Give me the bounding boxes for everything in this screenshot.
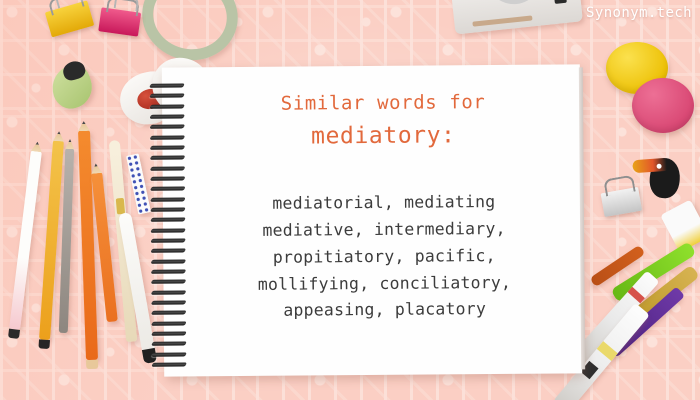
spiral-ring [150,238,186,242]
spiral-ring [151,300,187,304]
spiral-ring [149,83,185,87]
spiral-ring [151,362,187,366]
site-logo[interactable]: Synonym.tech [586,5,692,21]
page-headword: mediatory: [204,116,562,156]
spiral-ring [150,249,186,253]
spiral-ring [149,94,185,98]
notebook: Similar words for mediatory: mediatorial… [162,64,582,376]
spiral-ring [151,342,187,346]
spiral-ring [150,166,186,170]
spiral-ring [150,176,186,180]
spiral-ring [151,352,187,356]
screenshot-canvas: Similar words for mediatory: mediatorial… [0,0,700,400]
spiral-ring [149,145,185,149]
spiral-ring [150,269,186,273]
page-title-prefix: Similar words for [204,89,562,119]
spiral-ring [150,197,186,201]
spiral-ring [149,104,185,108]
synonym-list: mediatorial, mediating mediative, interm… [205,189,564,325]
spiral-ring [151,280,187,284]
toucan-sticker [634,148,691,202]
binder-clip-pink [98,3,142,36]
spiral-ring [151,311,187,315]
notebook-page: Similar words for mediatory: mediatorial… [162,64,582,376]
synonym-line: mediative, intermediary, [205,216,563,246]
synonym-line: mediatorial, mediating [205,189,563,219]
macaron-pink [632,78,694,133]
spiral-ring [150,156,186,160]
spiral-ring [149,114,185,118]
spiral-ring [150,218,186,222]
spiral-binding [150,83,188,366]
spiral-ring [150,187,186,191]
spiral-ring [151,321,187,325]
spiral-ring [149,125,185,129]
synonym-line: mollifying, conciliatory, [205,269,563,299]
card-content: Similar words for mediatory: mediatorial… [204,89,564,326]
spiral-ring [150,259,186,263]
spiral-ring [150,228,186,232]
synonym-line: appeasing, placatory [206,296,564,326]
spiral-ring [151,331,187,335]
synonym-line: propitiatory, pacific, [205,242,563,272]
spiral-ring [149,135,185,139]
spiral-ring [150,207,186,211]
spiral-ring [151,290,187,294]
